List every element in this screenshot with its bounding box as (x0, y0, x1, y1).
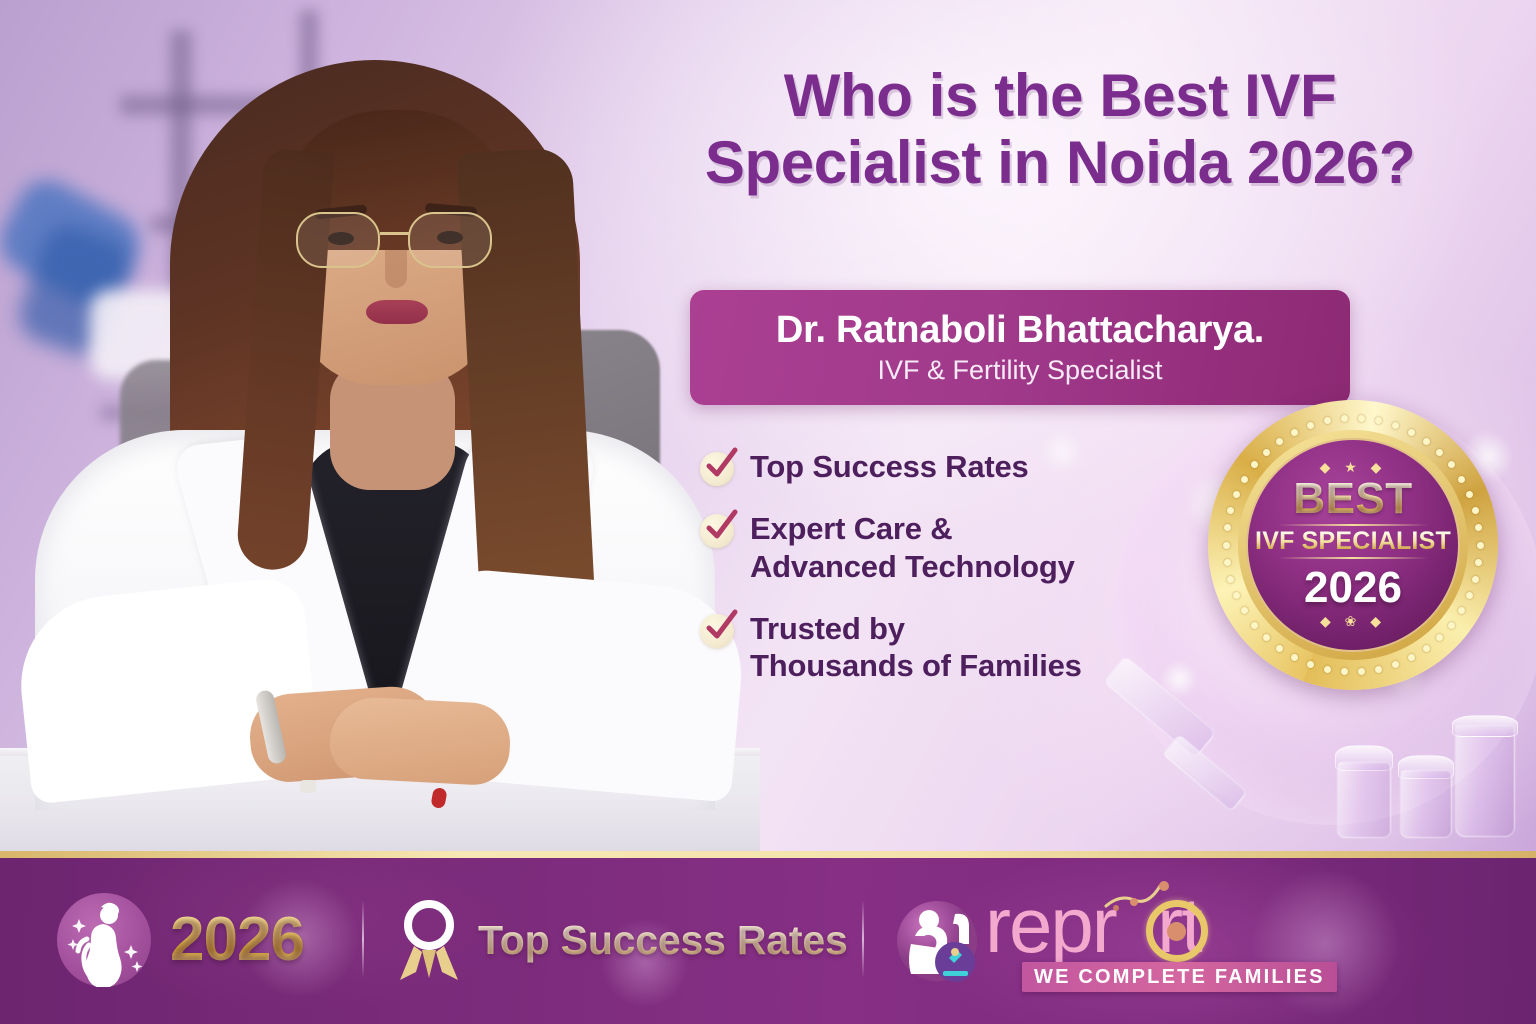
footer-award-text: Top Success Rates (478, 908, 848, 972)
list-item: Top Success Rates (700, 448, 1180, 486)
headline-line-2: Specialist in Noida 2026? (640, 129, 1480, 196)
badge-middle-label: IVF SPECIALIST (1255, 529, 1451, 554)
hand (328, 695, 512, 786)
headline-line-1: Who is the Best IVF (784, 62, 1336, 129)
eyeglass-lens (408, 212, 492, 268)
eyeglass-lens (296, 212, 380, 268)
glass-beaker-rim (1452, 715, 1518, 737)
footer-year: 2026 (170, 893, 304, 987)
award-ribbon-icon (392, 898, 466, 984)
egg-nucleus (1167, 922, 1186, 941)
glass-beaker (1455, 725, 1515, 837)
list-item: Expert Care & Advanced Technology (700, 510, 1180, 586)
nose (385, 250, 407, 288)
lips (366, 300, 428, 324)
badge-star-top: ◆ ★ ◆ (1320, 460, 1387, 474)
pregnant-woman-icon (57, 893, 151, 987)
check-circle-icon (700, 514, 734, 548)
finger-ring (300, 780, 316, 793)
glass-vial (1400, 770, 1452, 838)
check-circle-icon (700, 614, 734, 648)
badge-divider (1278, 524, 1428, 526)
gold-divider-line (0, 851, 1536, 858)
eyeglass-bridge (380, 232, 410, 235)
list-item: Trusted by Thousands of Families (700, 610, 1180, 686)
banner-canvas: Who is the Best IVF Specialist in Noida … (0, 0, 1536, 1024)
list-item-label: Top Success Rates (750, 448, 1029, 486)
doctor-microscope-icon (893, 892, 991, 990)
badge-divider (1278, 557, 1428, 559)
brand-logo-part1: repr (985, 886, 1116, 964)
footer-divider (362, 900, 364, 978)
footer-divider (862, 900, 864, 978)
sperm-icon (1104, 880, 1194, 916)
doctor-role: IVF & Fertility Specialist (877, 357, 1162, 384)
list-item-label: Expert Care & Advanced Technology (750, 510, 1075, 586)
badge-star-bottom: ◆ ❀ ◆ (1320, 614, 1386, 628)
glass-vial (1337, 762, 1391, 838)
list-item-label: Trusted by Thousands of Families (750, 610, 1082, 686)
badge-year: 2026 (1304, 566, 1402, 610)
benefits-list: Top Success Rates Expert Care & Advanced… (700, 448, 1180, 709)
doctor-name-banner: Dr. Ratnaboli Bhattacharya. IVF & Fertil… (690, 290, 1350, 405)
brand-tagline: WE COMPLETE FAMILIES (1022, 962, 1337, 992)
badge-top-label: BEST (1293, 477, 1412, 521)
footer-bokeh (1250, 868, 1400, 1018)
award-badge: ◆ ★ ◆ BEST IVF SPECIALIST 2026 ◆ ❀ ◆ (1208, 400, 1498, 690)
page-title: Who is the Best IVF Specialist in Noida … (640, 62, 1480, 196)
badge-face: ◆ ★ ◆ BEST IVF SPECIALIST 2026 ◆ ❀ ◆ (1246, 438, 1460, 652)
check-circle-icon (700, 452, 734, 486)
doctor-name: Dr. Ratnaboli Bhattacharya. (776, 311, 1264, 349)
